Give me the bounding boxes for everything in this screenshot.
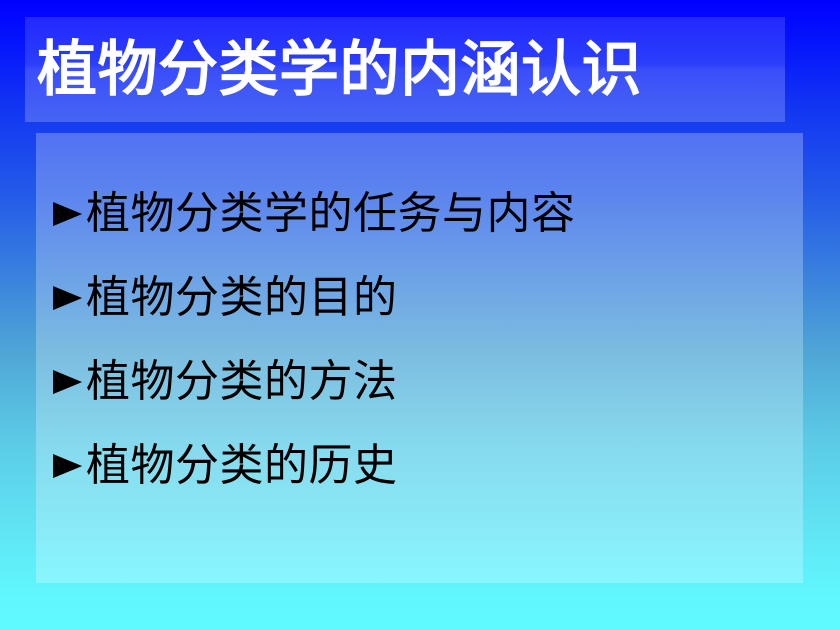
presentation-slide: 植物分类学的内涵认识 植物分类学的任务与内容 植物分类的目的 xyxy=(0,0,840,630)
arrowhead-bullet-icon xyxy=(50,444,86,488)
bullet-item-1[interactable]: 植物分类学的任务与内容 xyxy=(50,191,803,275)
arrowhead-bullet-icon xyxy=(50,192,86,236)
slide-title-placeholder[interactable]: 植物分类学的内涵认识 xyxy=(25,17,785,122)
bullet-item-1-label: 植物分类学的任务与内容 xyxy=(86,191,576,237)
slide-body-placeholder[interactable]: 植物分类学的任务与内容 植物分类的目的 植物分类的方法 xyxy=(36,133,803,583)
arrowhead-bullet-icon xyxy=(50,276,86,320)
slide-title: 植物分类学的内涵认识 xyxy=(37,40,642,100)
arrowhead-bullet-icon xyxy=(50,360,86,404)
bullet-item-3-label: 植物分类的方法 xyxy=(86,359,398,405)
bullet-item-2[interactable]: 植物分类的目的 xyxy=(50,275,803,359)
bullet-item-4-label: 植物分类的历史 xyxy=(86,443,398,489)
bullet-item-3[interactable]: 植物分类的方法 xyxy=(50,359,803,443)
bullet-item-2-label: 植物分类的目的 xyxy=(86,275,398,321)
bullet-item-4[interactable]: 植物分类的历史 xyxy=(50,443,803,527)
